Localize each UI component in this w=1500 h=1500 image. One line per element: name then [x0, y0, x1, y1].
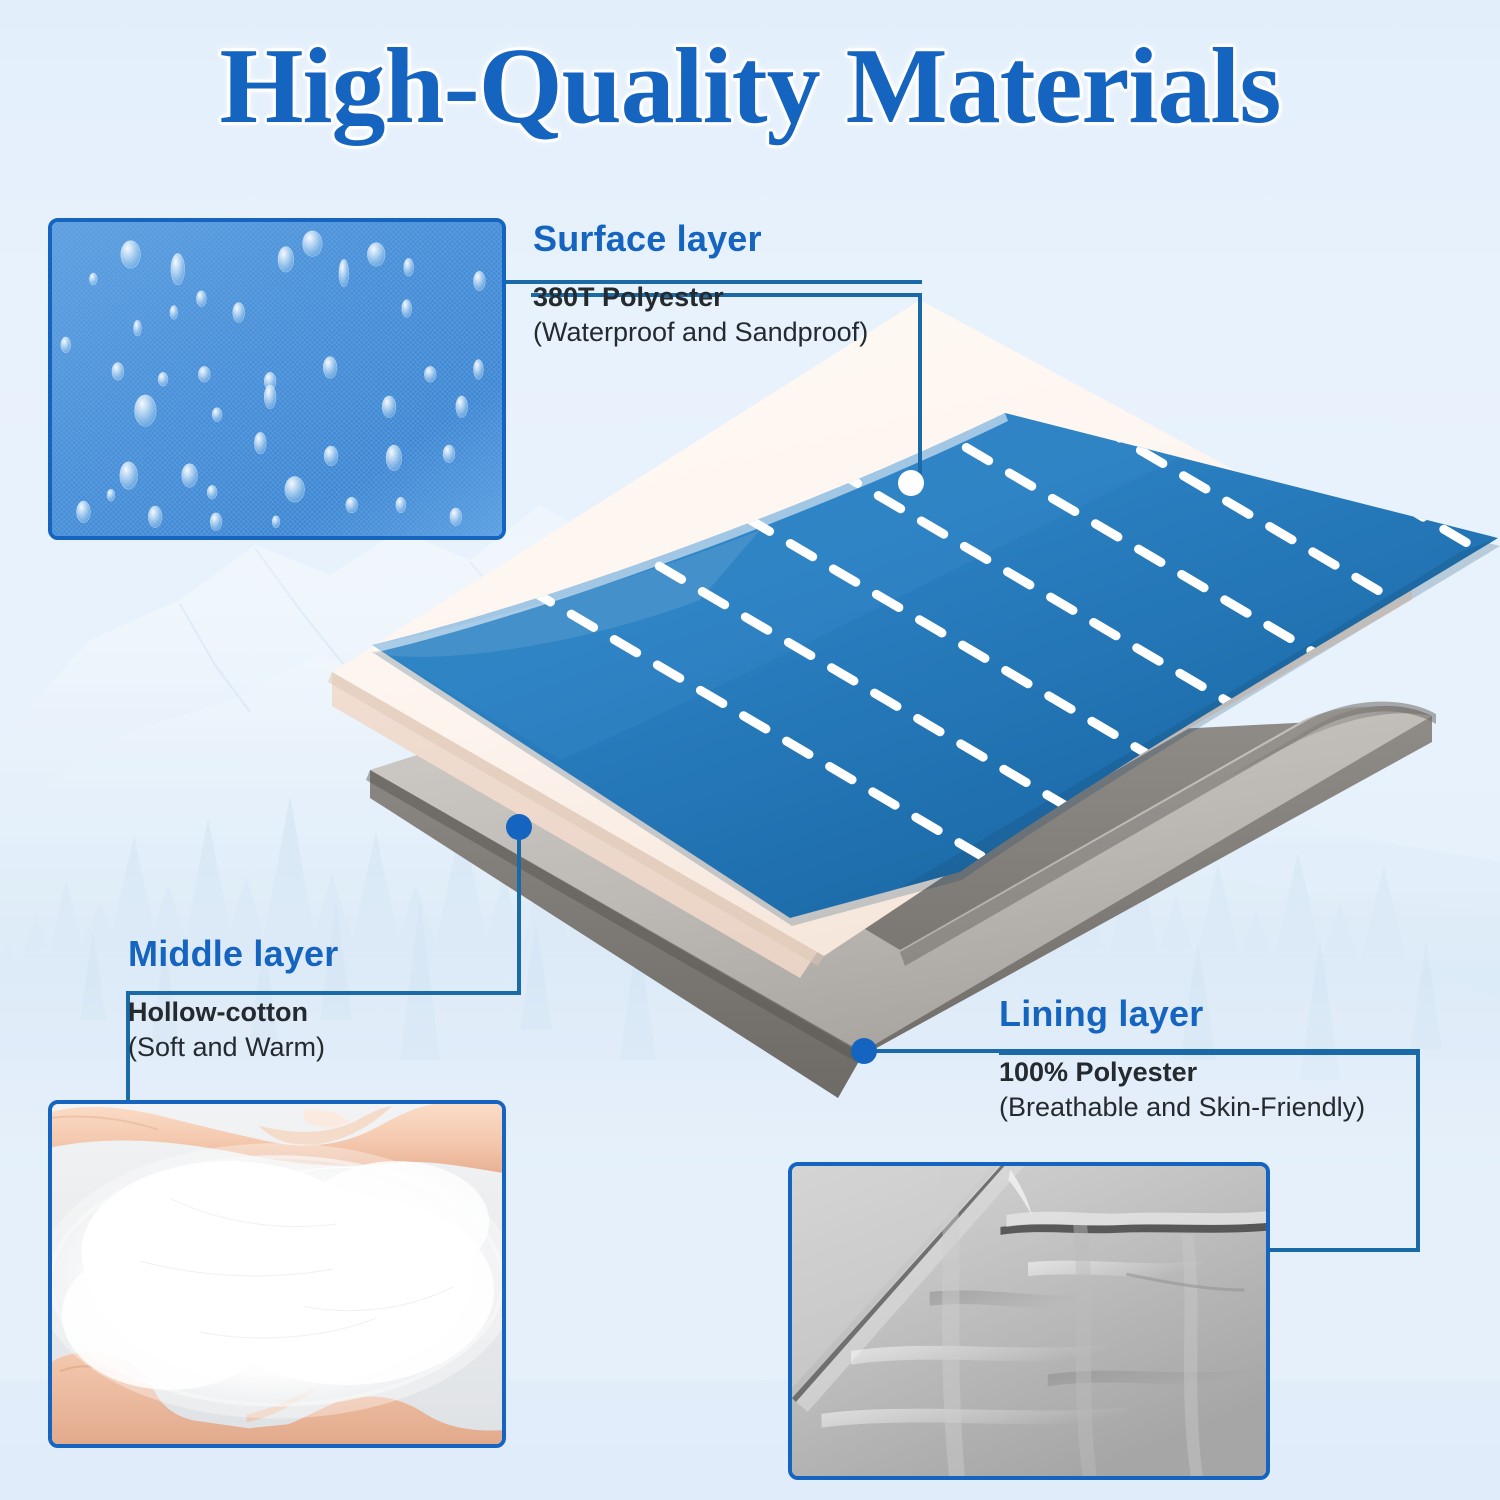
- callout-material-middle: Hollow-cotton: [128, 997, 338, 1028]
- photo-surface-fabric: [48, 218, 506, 540]
- callout-heading-surface: Surface layer: [533, 218, 868, 260]
- callout-property-surface: (Waterproof and Sandproof): [533, 317, 868, 348]
- callout-middle-layer: Middle layer Hollow-cotton (Soft and War…: [128, 933, 338, 1063]
- callout-lining-layer: Lining layer 100% Polyester (Breathable …: [999, 993, 1365, 1123]
- infographic-canvas: High-Quality Materials: [0, 0, 1500, 1500]
- callout-heading-lining: Lining layer: [999, 993, 1365, 1035]
- callout-spec-lining: 100% Polyester (Breathable and Skin-Frie…: [999, 1057, 1365, 1123]
- callout-heading-middle: Middle layer: [128, 933, 338, 975]
- callout-property-lining: (Breathable and Skin-Friendly): [999, 1092, 1365, 1123]
- callout-spec-surface: 380T Polyester (Waterproof and Sandproof…: [533, 282, 868, 348]
- callout-surface-layer: Surface layer 380T Polyester (Waterproof…: [533, 218, 868, 348]
- fiberfill: [52, 1151, 502, 1410]
- callout-property-middle: (Soft and Warm): [128, 1032, 338, 1063]
- callout-material-lining: 100% Polyester: [999, 1057, 1365, 1088]
- callout-spec-middle: Hollow-cotton (Soft and Warm): [128, 997, 338, 1063]
- photo-hollow-cotton: [48, 1100, 506, 1448]
- callout-material-surface: 380T Polyester: [533, 282, 868, 313]
- photo-lining-fabric: [788, 1162, 1270, 1480]
